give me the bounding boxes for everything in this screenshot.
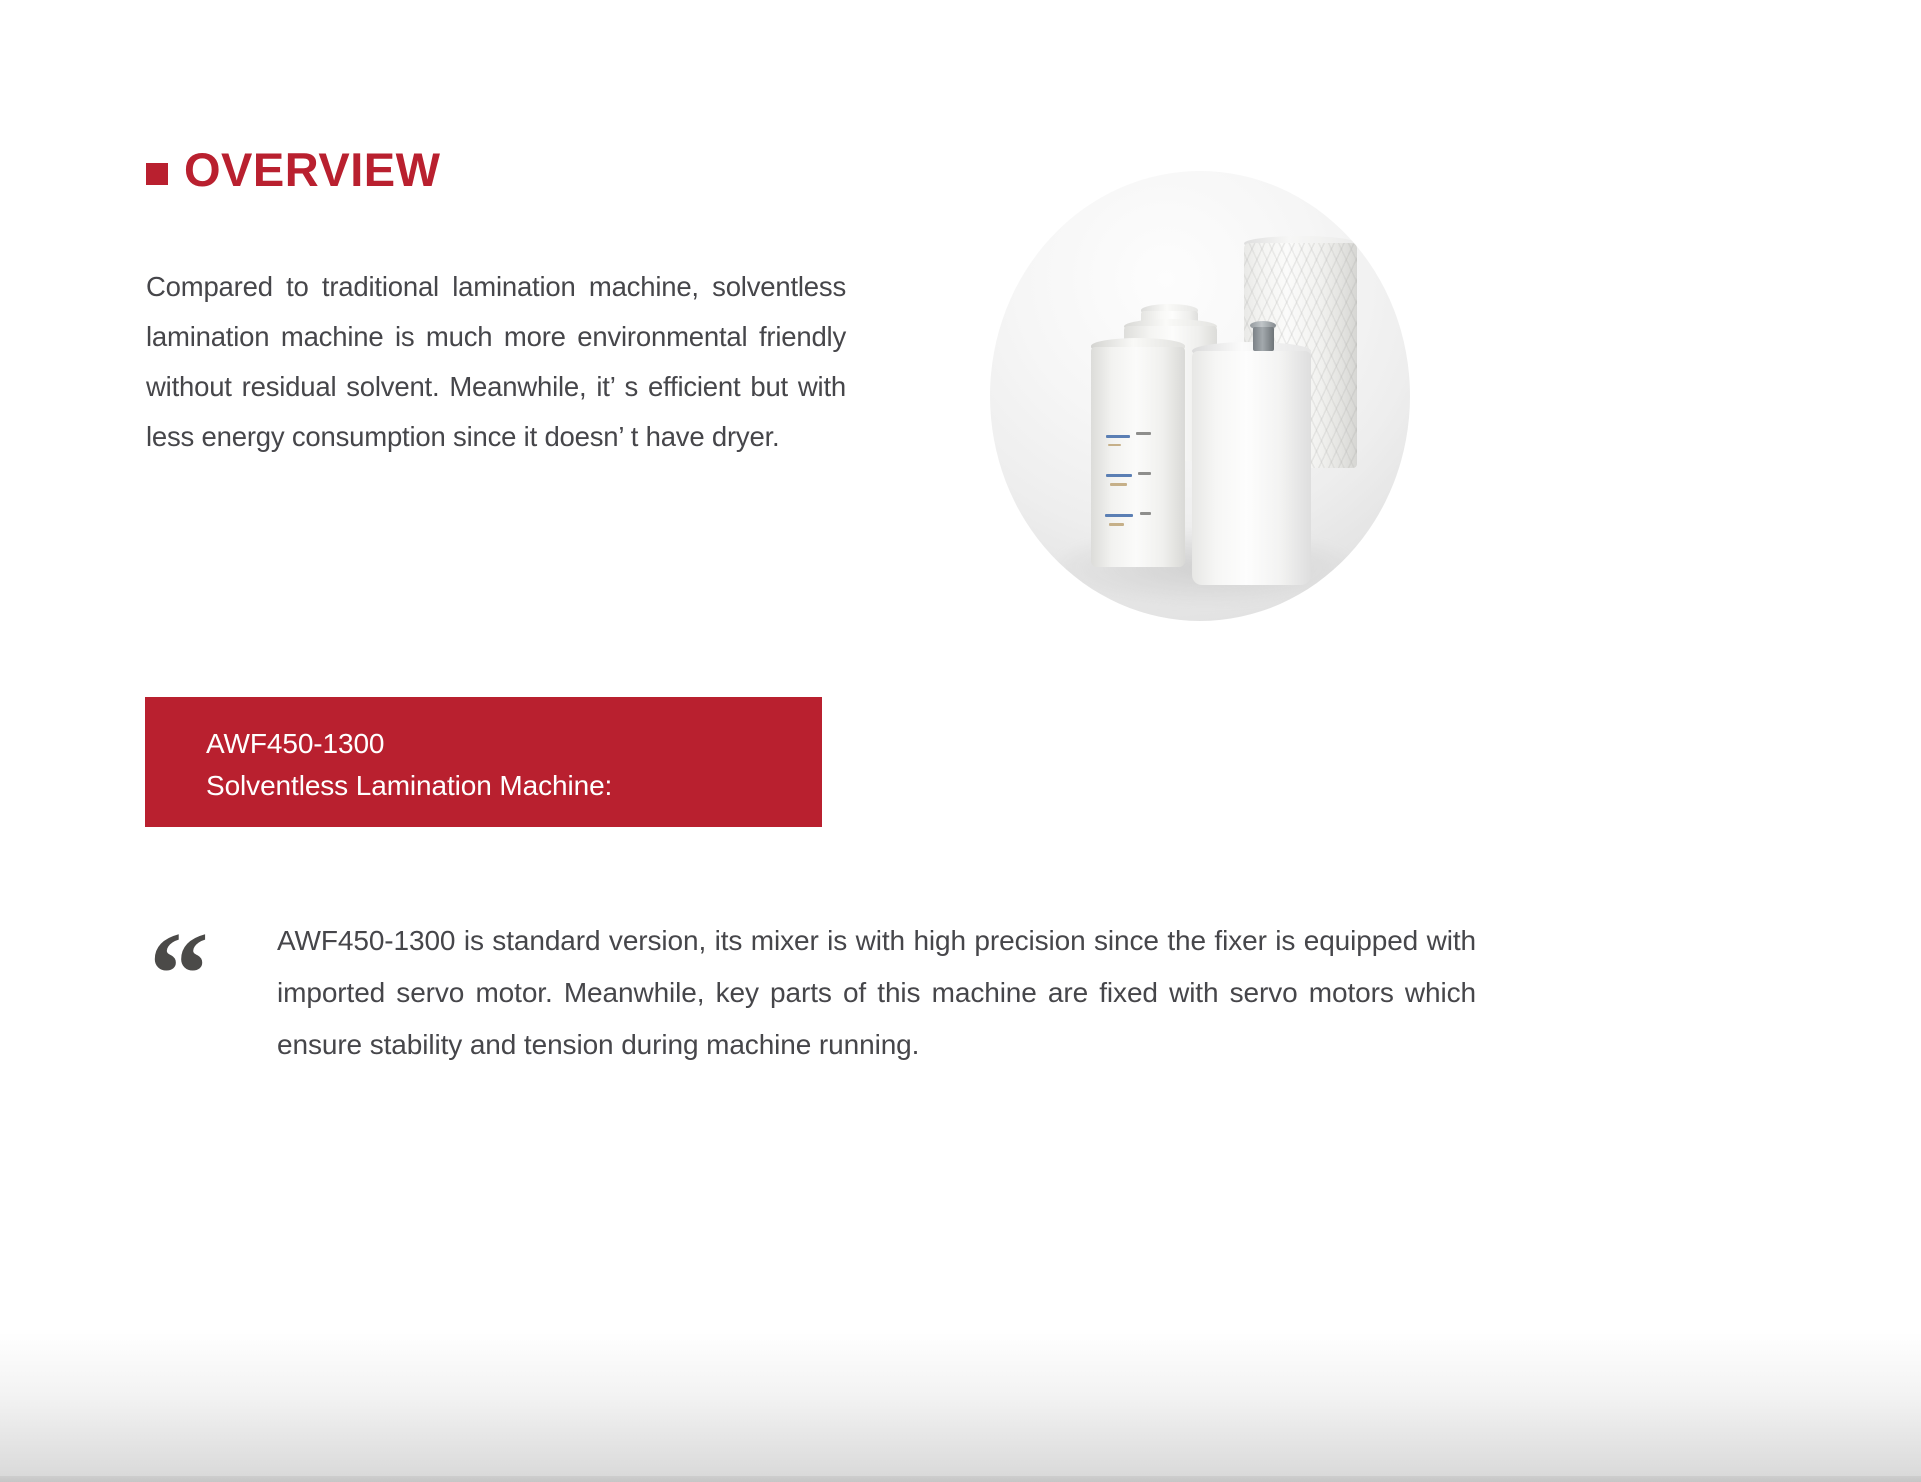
film-print-strip [1106,435,1131,438]
quote-text: AWF450-1300 is standard version, its mix… [277,915,1476,1071]
film-print-strip [1109,523,1124,526]
page-heading: OVERVIEW [146,146,440,193]
quote-block: “ AWF450-1300 is standard version, its m… [146,915,1476,1071]
page-title: OVERVIEW [184,146,440,193]
model-callout-box: AWF450-1300 Solventless Lamination Machi… [145,697,822,827]
product-photo [990,171,1410,621]
film-print-strip [1138,472,1151,475]
roll-core-fitting-icon [1253,327,1275,351]
film-print-strip [1136,432,1151,435]
film-roll-front-right [1192,351,1312,585]
film-print-strip [1108,444,1121,447]
slide-page: OVERVIEW Compared to traditional laminat… [0,0,1921,1482]
callout-subtitle-label: Solventless Lamination Machine: [206,765,822,807]
bottom-gradient-band [0,1332,1921,1482]
intro-paragraph: Compared to traditional lamination machi… [146,262,846,462]
open-quote-icon: “ [149,927,209,1021]
callout-model-label: AWF450-1300 [206,723,822,765]
film-roll-front-left [1091,347,1186,568]
bottom-edge-line [0,1476,1921,1482]
film-print-strip [1106,474,1132,477]
film-print-strip [1140,512,1151,515]
film-print-strip [1105,514,1133,517]
film-print-strip [1110,483,1127,486]
product-photo-scene [990,171,1410,621]
square-bullet-icon [146,163,168,185]
